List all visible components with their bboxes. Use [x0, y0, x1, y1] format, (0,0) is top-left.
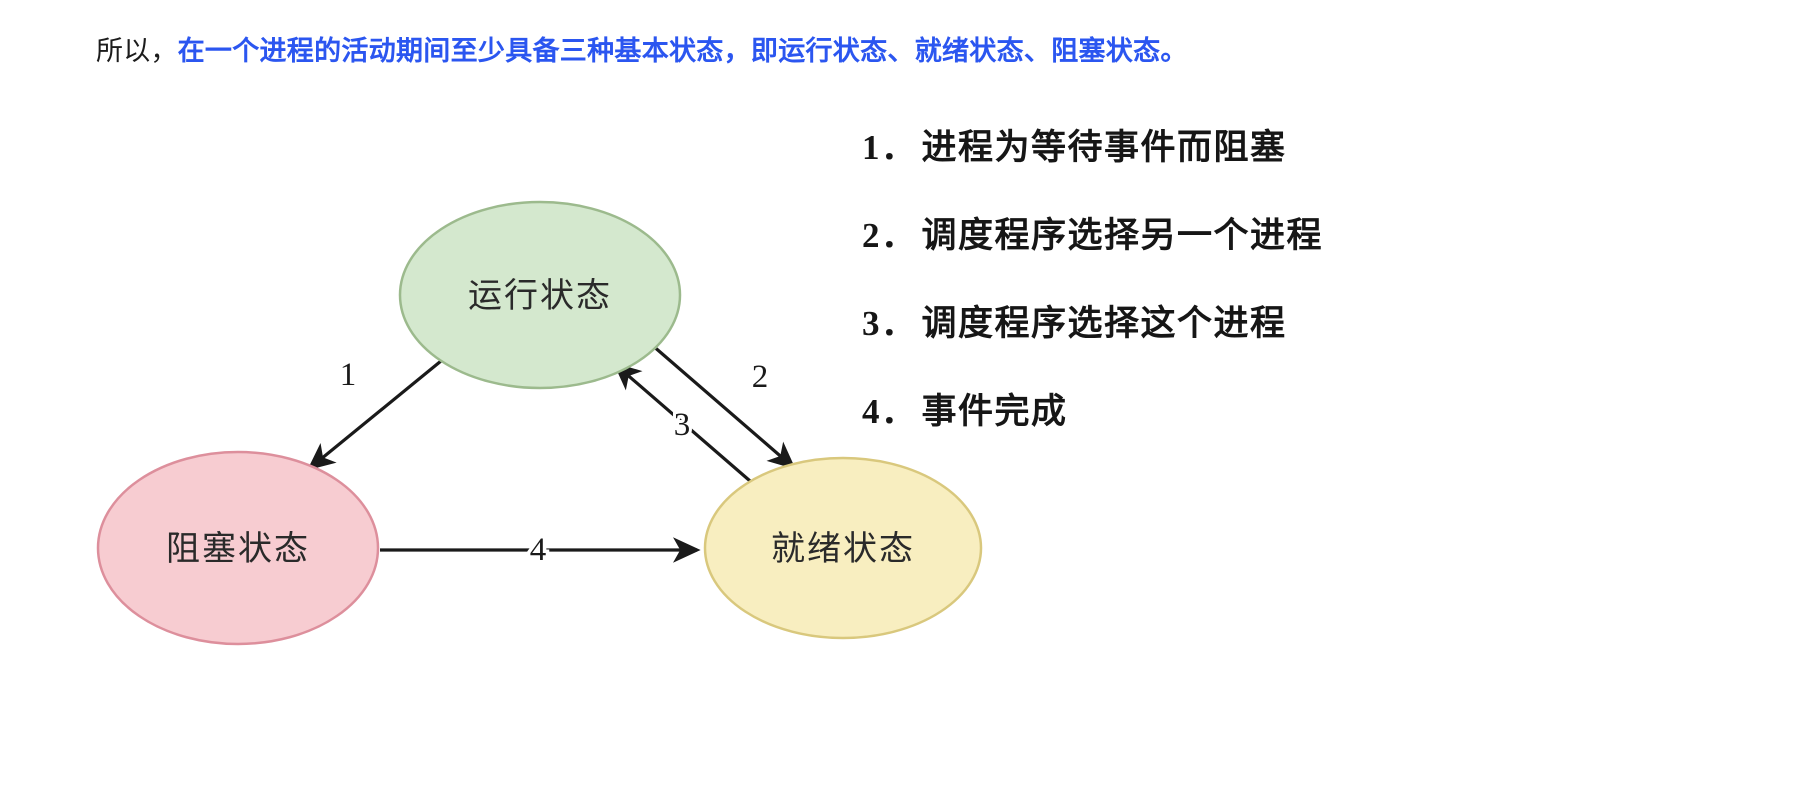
- ready-state-label: 就绪状态: [771, 530, 915, 568]
- legend-item-label: 调度程序选择另一个进程: [922, 216, 1324, 255]
- edge-label-3: 3: [674, 407, 691, 443]
- header-sentence: 所以，在一个进程的活动期间至少具备三种基本状态，即运行状态、就绪状态、阻塞状态。: [96, 28, 1696, 74]
- edge-label-4: 4: [530, 532, 547, 568]
- legend-item-label: 调度程序选择这个进程: [922, 304, 1287, 343]
- legend-item: 1．进程为等待事件而阻塞: [862, 104, 1562, 192]
- legend-item: 2．调度程序选择另一个进程: [862, 192, 1562, 280]
- node-ready[interactable]: 就绪状态: [705, 458, 981, 638]
- legend-item-index: 4．: [862, 392, 918, 431]
- edge-running-to-blocked: [310, 361, 441, 468]
- running-state-label: 运行状态: [468, 277, 612, 315]
- blocked-state-label: 阻塞状态: [166, 530, 310, 568]
- edge-label-1: 1: [340, 357, 357, 393]
- header-emphasis-text: 在一个进程的活动期间至少具备三种基本状态，即运行状态、就绪状态、阻塞状态。: [178, 36, 1188, 66]
- edge-label-2: 2: [752, 359, 769, 395]
- node-blocked[interactable]: 阻塞状态: [98, 452, 378, 644]
- header-prefix-text: 所以，: [96, 36, 178, 66]
- legend-item-label: 进程为等待事件而阻塞: [922, 128, 1287, 167]
- legend-item: 3．调度程序选择这个进程: [862, 280, 1562, 368]
- page-root: 所以，在一个进程的活动期间至少具备三种基本状态，即运行状态、就绪状态、阻塞状态。: [0, 0, 1810, 789]
- legend-item-label: 事件完成: [922, 392, 1068, 431]
- legend-item: 4．事件完成: [862, 368, 1562, 456]
- legend-item-index: 2．: [862, 216, 918, 255]
- legend-item-index: 1．: [862, 128, 918, 167]
- edge-running-to-ready: [652, 345, 793, 467]
- transition-legend-list: 1．进程为等待事件而阻塞 2．调度程序选择另一个进程 3．调度程序选择这个进程 …: [862, 104, 1562, 456]
- node-running[interactable]: 运行状态: [400, 202, 680, 388]
- legend-item-index: 3．: [862, 304, 918, 343]
